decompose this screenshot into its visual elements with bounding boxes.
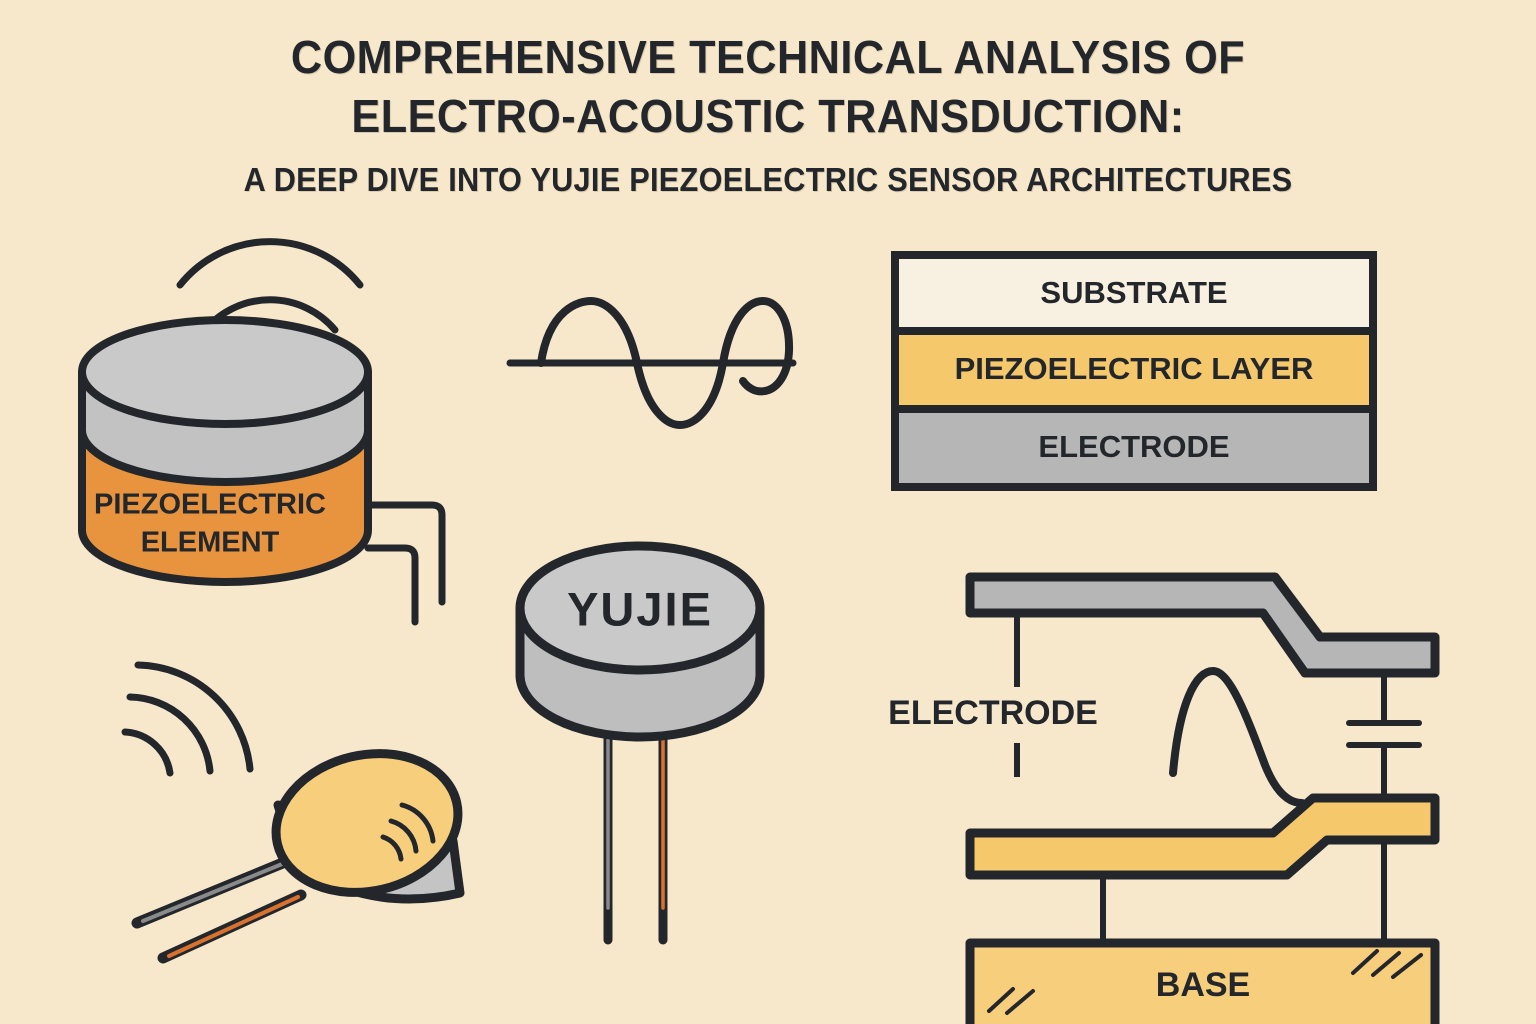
page-subtitle: A DEEP DIVE INTO YUJIE PIEZOELECTRIC SEN… (54, 159, 1482, 202)
piezoelectric-element-figure: PIEZOELECTRIC ELEMENT (60, 230, 490, 630)
sine-wave-figure (505, 285, 805, 425)
layer-substrate-label: SUBSTRATE (1040, 275, 1227, 310)
cylinder-label-line-1: PIEZOELECTRIC (94, 489, 326, 521)
capacitor-symbol (1349, 673, 1419, 798)
title-line-1: COMPREHENSIVE TECHNICAL ANALYSIS OF (46, 28, 1490, 87)
layer-stack-figure: SUBSTRATE PIEZOELECTRIC LAYER ELECTRODE (890, 250, 1385, 510)
cylinder-label-line-2: ELEMENT (141, 527, 280, 559)
middle-piezo-bar (970, 798, 1435, 875)
cylinder-top-face (82, 320, 368, 424)
title-line-2: ELECTRO-ACOUSTIC TRANSDUCTION: (46, 87, 1490, 146)
lead-wires (368, 505, 442, 622)
page-title: COMPREHENSIVE TECHNICAL ANALYSIS OF ELEC… (0, 28, 1536, 202)
transducer-legs (608, 726, 663, 940)
transducer-leg-cores (608, 730, 663, 908)
layer-electrode-label: ELECTRODE (1038, 429, 1229, 464)
yujie-transducer-figure: YUJIE (495, 490, 785, 960)
electrode-assembly-figure: ELECTRODE BASE (865, 555, 1490, 985)
sound-wave-icon-2 (125, 665, 250, 773)
layer-piezoelectric-label: PIEZOELECTRIC LAYER (955, 351, 1314, 386)
yujie-brand-label: YUJIE (567, 582, 713, 635)
upper-electrode-bar (970, 577, 1435, 673)
deflection-curve (1173, 671, 1302, 803)
poster-canvas: COMPREHENSIVE TECHNICAL ANALYSIS OF ELEC… (0, 0, 1536, 1024)
base-label: BASE (1156, 966, 1250, 1004)
tilted-disc-figure (115, 645, 515, 975)
electrode-callout-label: ELECTRODE (888, 694, 1098, 732)
